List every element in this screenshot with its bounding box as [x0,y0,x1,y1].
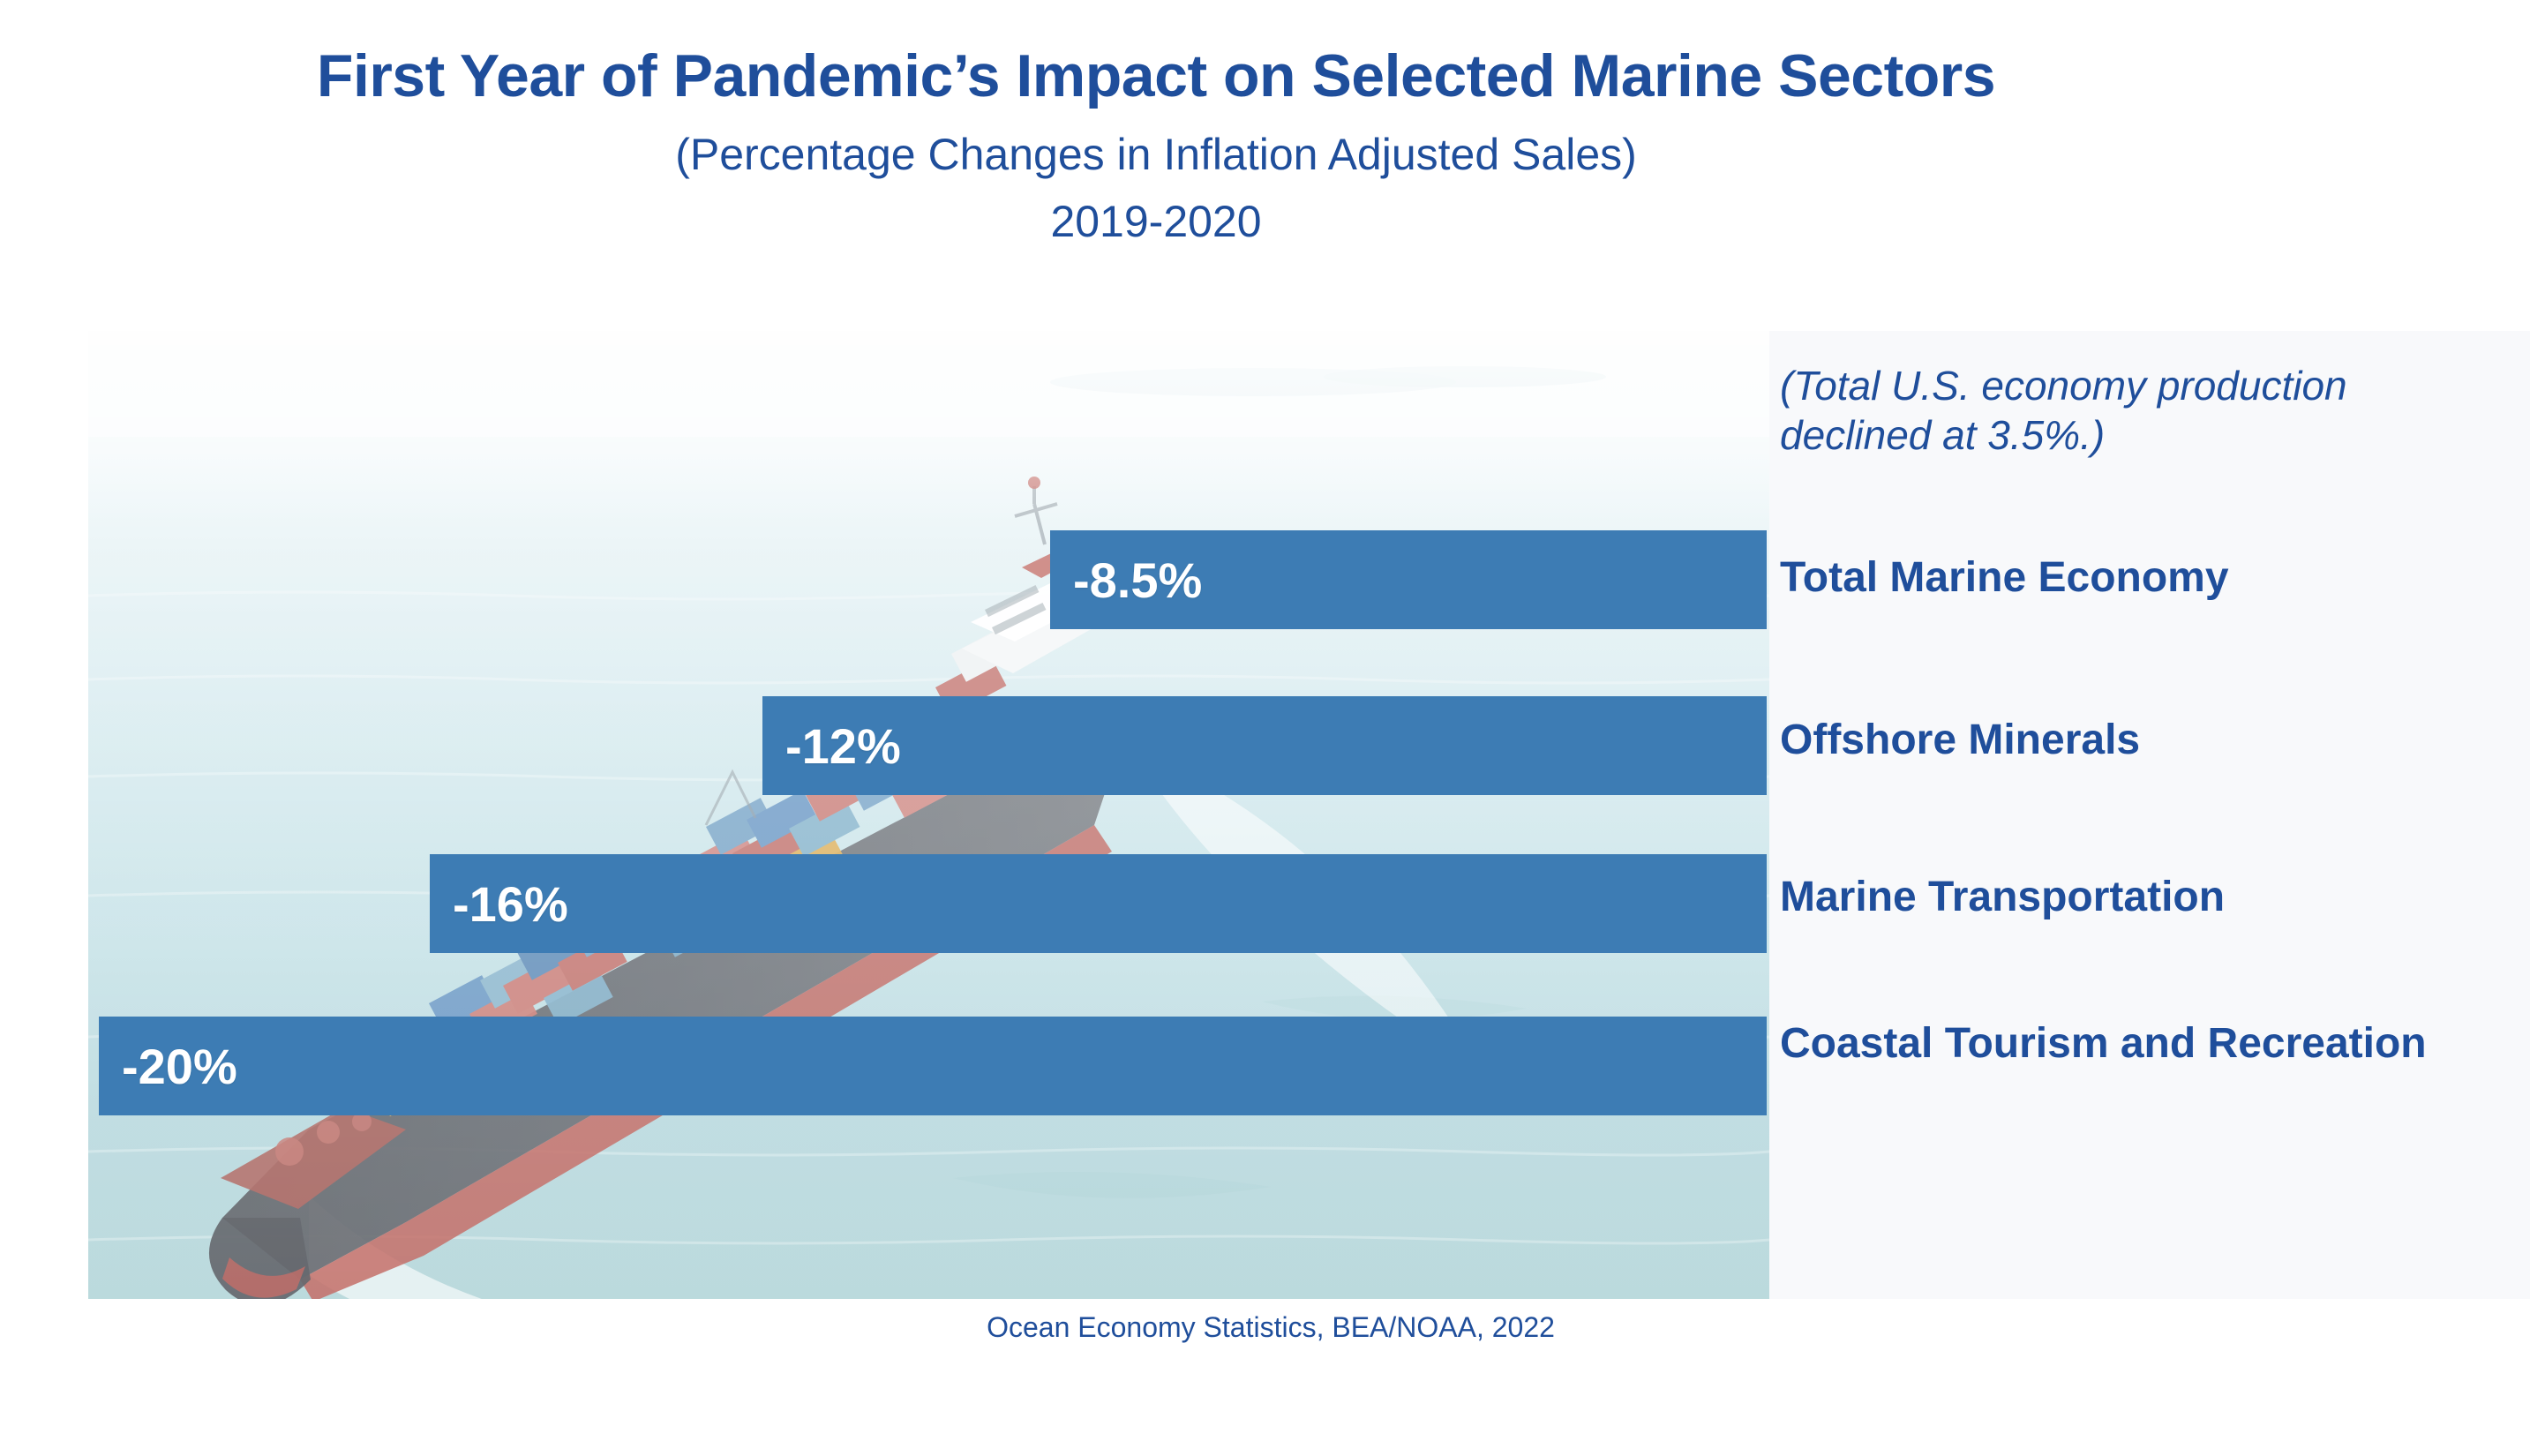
category-label-marine-transportation: Marine Transportation [1780,873,2512,922]
bar-value-label: -16% [453,875,568,933]
bar-coastal-tourism-and-recreation[interactable]: -20% [99,1017,1767,1115]
bar-value-label: -8.5% [1073,552,1202,609]
page-title: First Year of Pandemic’s Impact on Selec… [0,46,2312,106]
title-block: First Year of Pandemic’s Impact on Selec… [0,46,2312,244]
category-label-total-marine-economy: Total Marine Economy [1780,553,2512,603]
chart-subtitle: (Percentage Changes in Inflation Adjuste… [0,132,2312,176]
bar-value-label: -20% [122,1038,237,1095]
category-label-offshore-minerals: Offshore Minerals [1780,716,2512,765]
bar-value-label: -12% [785,717,901,775]
source-note: Ocean Economy Statistics, BEA/NOAA, 2022 [0,1311,2530,1344]
container-ship-at-sea-photo [88,331,1769,1299]
bar-offshore-minerals[interactable]: -12% [762,696,1767,795]
bar-total-marine-economy[interactable]: -8.5% [1050,530,1767,629]
category-label-panel [1769,331,2530,1299]
bar-marine-transportation[interactable]: -16% [430,854,1767,953]
category-label-coastal-tourism-and-recreation: Coastal Tourism and Recreation [1780,1019,2512,1069]
chart-period: 2019-2020 [0,199,2312,244]
chart-plot-area: (Total U.S. economy production declined … [88,331,2530,1299]
reference-annotation: (Total U.S. economy production declined … [1780,361,2504,460]
